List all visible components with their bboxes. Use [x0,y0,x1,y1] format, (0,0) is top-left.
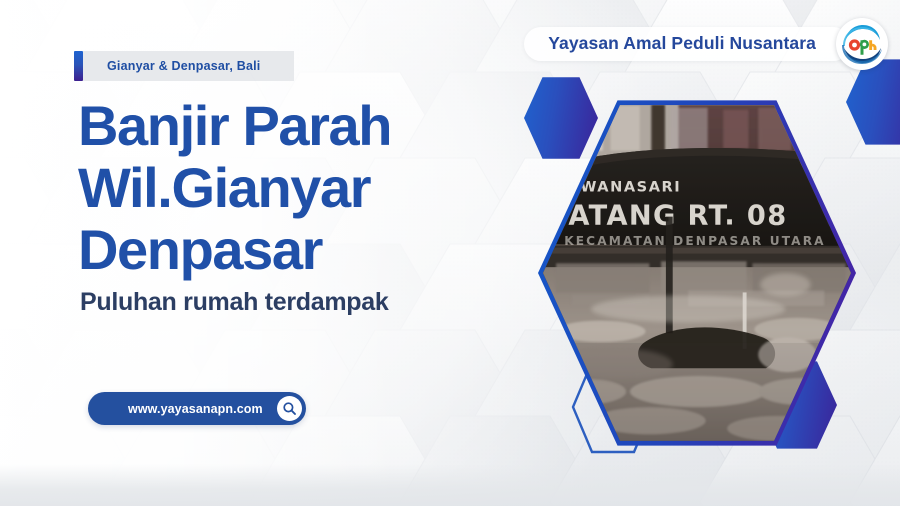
headline-line-2: Wil.Gianyar [78,157,391,219]
headline-line-3: Denpasar [78,219,391,281]
location-badge-accent-bar [74,51,83,81]
location-badge-label: Gianyar & Denpasar, Bali [107,59,260,73]
photo-hexagon-image: N WANASARI DATANG RT. 08 A KECAMATAN DEN… [543,100,851,446]
page-title: Banjir Parah Wil.Gianyar Denpasar [78,95,391,281]
page-subtitle: Puluhan rumah terdampak [80,288,388,317]
headline-line-1: Banjir Parah [78,95,391,157]
website-url-label: www.yayasanapn.com [128,402,263,416]
search-icon[interactable] [277,396,302,421]
location-badge-body: Gianyar & Denpasar, Bali [83,51,294,81]
website-url-button[interactable]: www.yayasanapn.com [88,392,306,425]
brand-name-pill: Yayasan Amal Peduli Nusantara [524,27,850,61]
poster-canvas: N WANASARI DATANG RT. 08 A KECAMATAN DEN… [0,0,900,506]
location-badge: Gianyar & Denpasar, Bali [74,51,294,81]
brand-header: Yayasan Amal Peduli Nusantara [524,18,888,70]
brand-name-text: Yayasan Amal Peduli Nusantara [548,33,816,53]
apn-circle-logo-icon [836,18,888,70]
photo-hexagon: N WANASARI DATANG RT. 08 A KECAMATAN DEN… [538,95,856,451]
